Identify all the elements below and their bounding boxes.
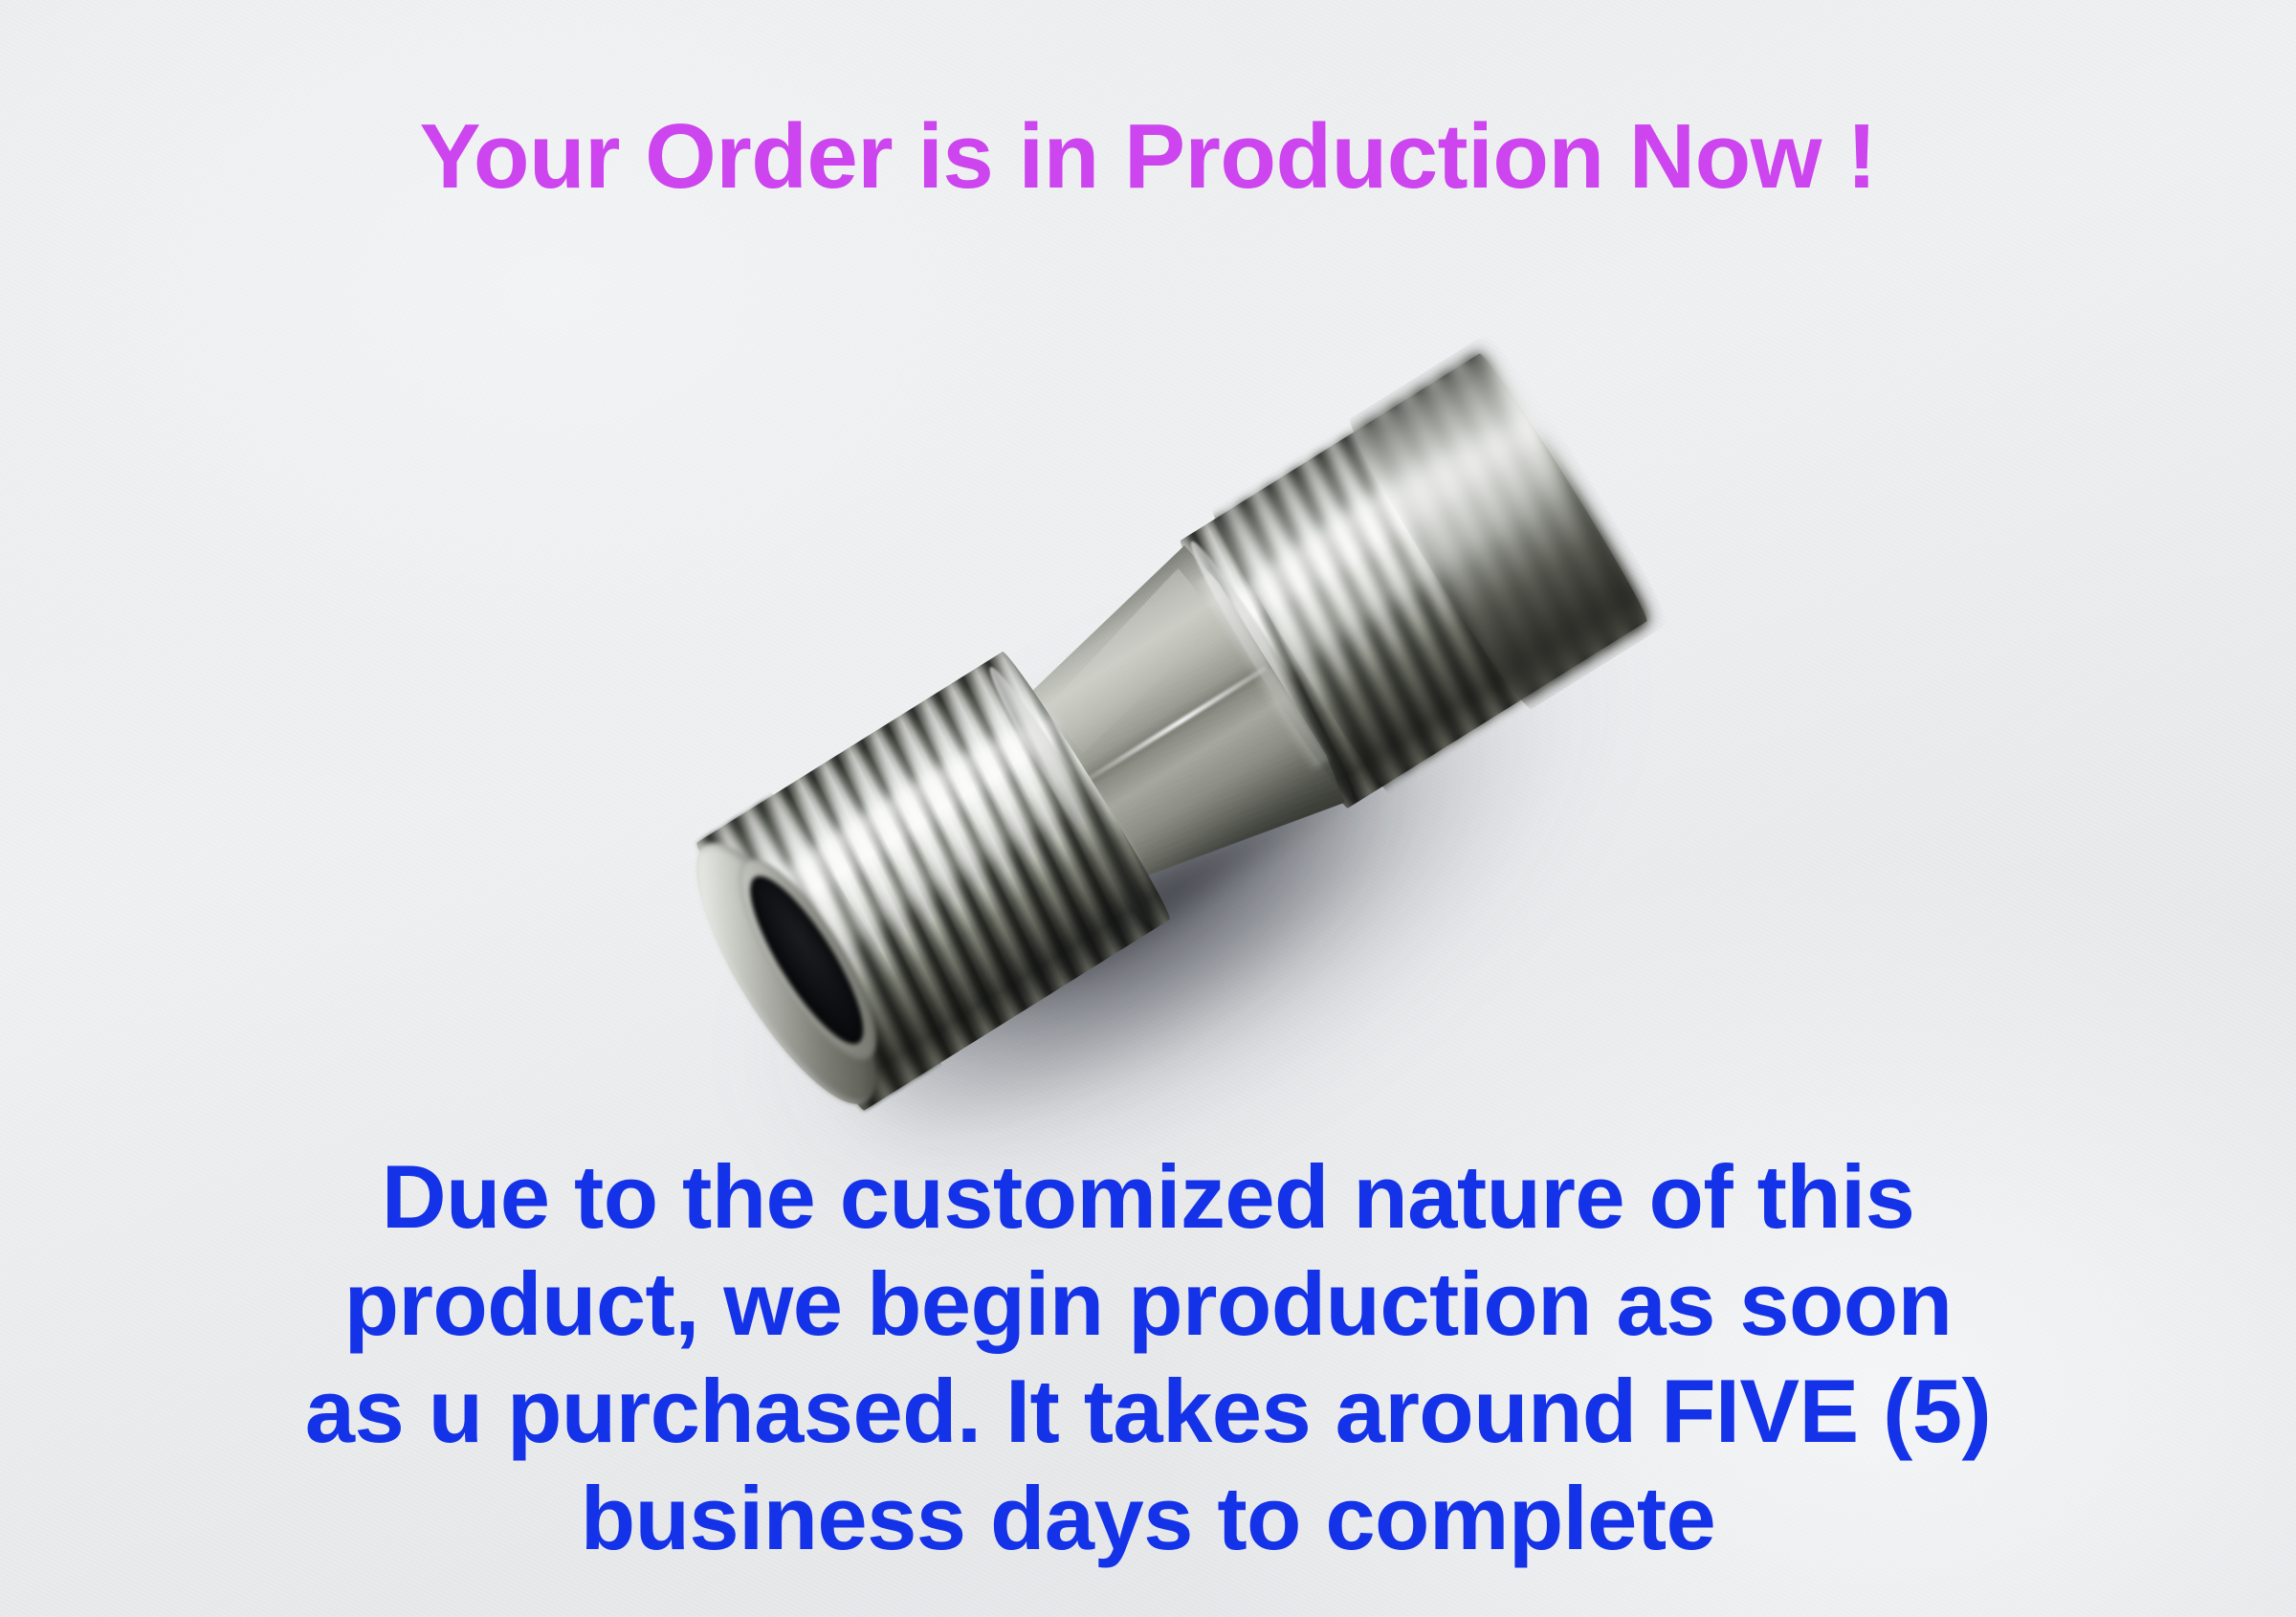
notice-line-1: Due to the customized nature of this	[0, 1143, 2296, 1251]
notice-line-3: as u purchased. It takes around FIVE (5)	[0, 1358, 2296, 1465]
notice-line-4: business days to complete	[0, 1465, 2296, 1572]
production-notice-text: Due to the customized nature of this pro…	[0, 1143, 2296, 1571]
product-notice-banner: Your Order is in Production Now !	[0, 0, 2296, 1617]
page-title: Your Order is in Production Now !	[0, 111, 2296, 203]
notice-line-2: product, we begin production as soon	[0, 1251, 2296, 1358]
